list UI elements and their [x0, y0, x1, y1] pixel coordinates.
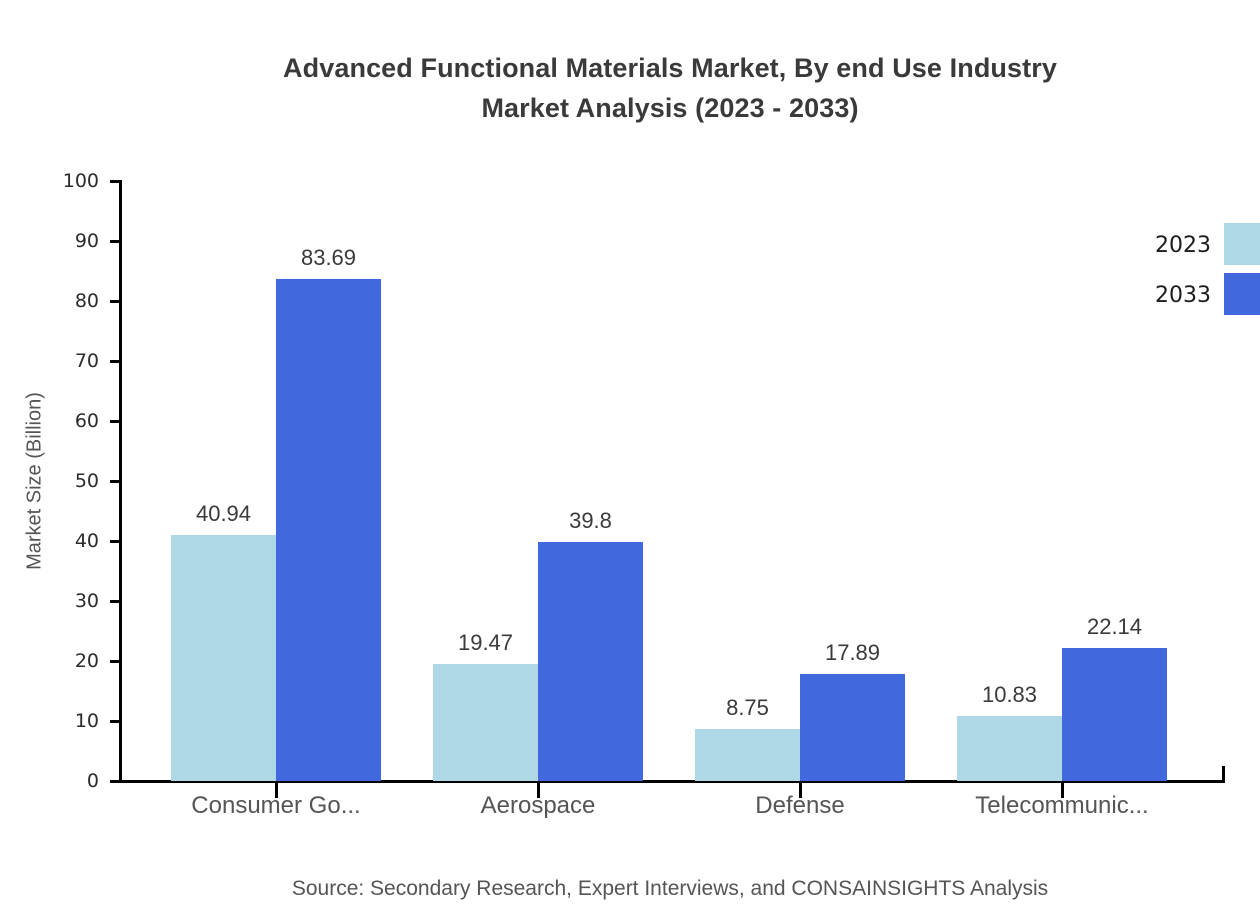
bar-value-label: 22.14: [1087, 614, 1142, 640]
bar-value-label: 17.89: [825, 640, 880, 666]
chart-legend: 20232033: [1135, 220, 1260, 320]
y-axis-tick-label: 80: [0, 290, 99, 312]
bar-value-label: 10.83: [982, 682, 1037, 708]
chart-title-line-1: Advanced Functional Materials Market, By…: [0, 48, 1260, 88]
y-axis-tick-label: 60: [0, 410, 99, 432]
y-axis-tick: [110, 180, 121, 183]
y-axis-tick-label: 0: [0, 770, 99, 792]
bar-value-label: 83.69: [301, 245, 356, 271]
chart-title: Advanced Functional Materials Market, By…: [0, 48, 1260, 128]
bar-value-label: 40.94: [196, 501, 251, 527]
source-note: Source: Secondary Research, Expert Inter…: [0, 877, 1260, 901]
x-axis-category-label: Defense: [755, 792, 844, 820]
y-axis-tick-label: 90: [0, 230, 99, 252]
legend-label: 2033: [1155, 283, 1211, 308]
bar-2023-1[interactable]: [433, 664, 538, 781]
bar-value-label: 19.47: [458, 630, 513, 656]
y-axis-tick: [110, 300, 121, 303]
y-axis-tick-label: 50: [0, 470, 99, 492]
y-axis-tick: [110, 540, 121, 543]
y-axis-tick: [110, 420, 121, 423]
bar-2033-0[interactable]: [276, 279, 381, 781]
bar-2023-3[interactable]: [957, 716, 1062, 781]
legend-label: 2023: [1155, 233, 1211, 258]
bar-2023-0[interactable]: [171, 535, 276, 781]
y-axis-tick: [110, 780, 121, 783]
y-axis-tick: [110, 240, 121, 243]
legend-item-2033[interactable]: 2033: [1135, 270, 1260, 320]
x-axis-category-label: Consumer Go...: [191, 792, 360, 820]
bar-2033-2[interactable]: [800, 674, 905, 781]
bar-value-label: 8.75: [726, 695, 769, 721]
bar-chart: Advanced Functional Materials Market, By…: [0, 0, 1260, 920]
plot-area: 40.9483.6919.4739.88.7517.8910.8322.14: [121, 181, 1223, 781]
y-axis-tick-label: 20: [0, 650, 99, 672]
y-axis-tick-label: 70: [0, 350, 99, 372]
y-axis-tick: [110, 360, 121, 363]
y-axis-tick-label: 100: [0, 170, 99, 192]
y-axis-tick: [110, 600, 121, 603]
y-axis-tick-label: 40: [0, 530, 99, 552]
y-axis-tick-label: 30: [0, 590, 99, 612]
y-axis-tick: [110, 480, 121, 483]
legend-item-2023[interactable]: 2023: [1135, 220, 1260, 270]
legend-swatch: [1224, 223, 1260, 265]
bar-2033-1[interactable]: [538, 542, 643, 781]
bar-2033-3[interactable]: [1062, 648, 1167, 781]
bar-2023-2[interactable]: [695, 729, 800, 782]
x-axis-category-label: Aerospace: [481, 792, 596, 820]
x-axis-category-label: Telecommunic...: [975, 792, 1148, 820]
bar-value-label: 39.8: [569, 508, 612, 534]
chart-title-line-2: Market Analysis (2023 - 2033): [0, 88, 1260, 128]
legend-swatch: [1224, 273, 1260, 315]
y-axis-tick: [110, 720, 121, 723]
y-axis-tick: [110, 660, 121, 663]
y-axis-tick-label: 10: [0, 710, 99, 732]
